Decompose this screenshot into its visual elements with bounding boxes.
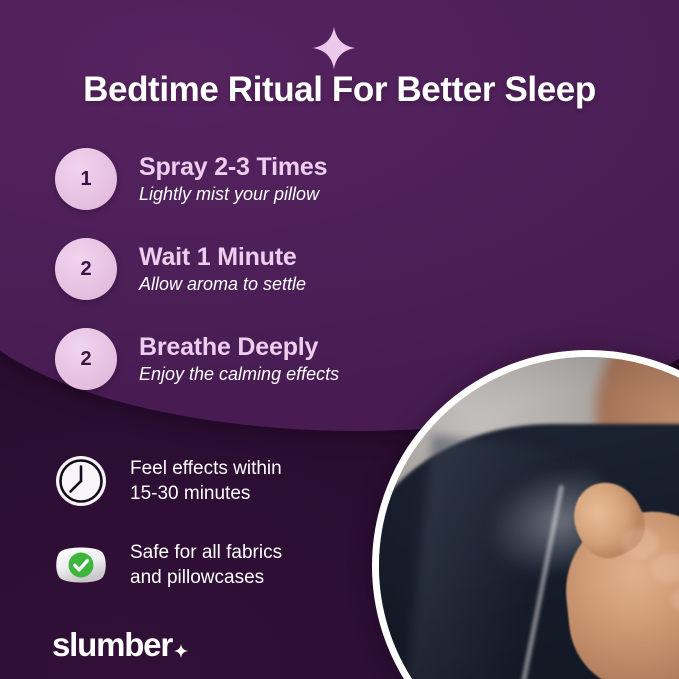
step-text-block: Wait 1 Minute Allow aroma to settle (139, 243, 306, 294)
step-subtitle: Enjoy the calming effects (139, 364, 339, 384)
sparkle-icon (174, 644, 188, 658)
step-subtitle: Allow aroma to settle (139, 274, 306, 294)
photo-vignette (379, 357, 679, 679)
step-number-badge: 2 (55, 328, 117, 390)
brand-logo: slumber (52, 628, 188, 661)
step-subtitle: Lightly mist your pillow (139, 184, 327, 204)
pillow-check-icon (52, 536, 110, 594)
benefits-list: Feel effects within 15-30 minutes (52, 452, 382, 620)
step-title: Wait 1 Minute (139, 243, 306, 271)
brand-logo-text: slumber (52, 628, 172, 661)
step-text-block: Spray 2-3 Times Lightly mist your pillow (139, 153, 327, 204)
infographic-canvas: Bedtime Ritual For Better Sleep 1 Spray … (0, 0, 679, 679)
benefit-text-block: Feel effects within 15-30 minutes (130, 456, 282, 506)
step-text-block: Breathe Deeply Enjoy the calming effects (139, 333, 339, 384)
list-item: Feel effects within 15-30 minutes (52, 452, 382, 510)
list-item: 2 Wait 1 Minute Allow aroma to settle (55, 238, 475, 300)
step-number-badge: 1 (55, 148, 117, 210)
benefit-line-1: Feel effects within (130, 456, 282, 481)
step-number-badge: 2 (55, 238, 117, 300)
page-title: Bedtime Ritual For Better Sleep (0, 70, 679, 110)
benefit-line-2: 15-30 minutes (130, 481, 282, 506)
list-item: 1 Spray 2-3 Times Lightly mist your pill… (55, 148, 475, 210)
clock-icon (52, 452, 110, 510)
product-photo-image (379, 357, 679, 679)
benefit-line-1: Safe for all fabrics (130, 540, 282, 565)
list-item: Safe for all fabrics and pillowcases (52, 536, 382, 594)
step-title: Breathe Deeply (139, 333, 339, 361)
product-photo (372, 350, 679, 679)
step-title: Spray 2-3 Times (139, 153, 327, 181)
benefit-text-block: Safe for all fabrics and pillowcases (130, 540, 282, 590)
four-point-star-icon (312, 26, 356, 70)
benefit-line-2: and pillowcases (130, 565, 282, 590)
